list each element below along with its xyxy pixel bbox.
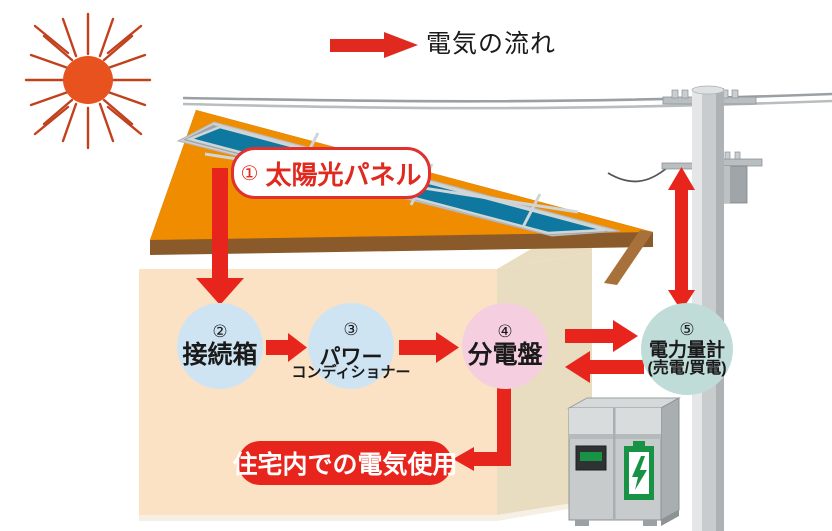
node-junction-box-number: ②: [212, 323, 227, 340]
solar-panel-callout-label: 太陽光パネル: [265, 155, 421, 192]
node-power-conditioner[interactable]: ③ パワー コンディショナー: [308, 303, 394, 389]
battery-storage-unit: [561, 392, 693, 527]
node-power-conditioner-label-line2: コンディショナー: [292, 361, 411, 382]
diagram-canvas: 電気の流れ ① 太陽光パネル ② 接続箱 ③ パワー コンディショナー ④ 分電…: [0, 0, 832, 531]
node-electricity-meter[interactable]: ⑤ 電力量計 (売電/買電): [641, 303, 733, 395]
arrow-meter-to-grid-bidirectional: [668, 167, 695, 311]
node-electricity-meter-sublabel: (売電/買電): [647, 361, 726, 377]
node-power-conditioner-number: ③: [343, 321, 358, 338]
legend: 電気の流れ: [330, 22, 600, 66]
node-electricity-meter-number: ⑤: [679, 321, 694, 338]
node-distribution-board-number: ④: [497, 323, 512, 340]
right-arrow-icon: [330, 32, 418, 58]
node-junction-box[interactable]: ② 接続箱: [177, 303, 263, 389]
arrow-distribution-board-to-meter: [565, 320, 638, 352]
node-distribution-board[interactable]: ④ 分電盤: [462, 303, 548, 389]
status-display: [580, 452, 602, 461]
home-electricity-use-label: 住宅内での電気使用: [233, 445, 458, 481]
solar-panel-callout[interactable]: ① 太陽光パネル: [231, 147, 431, 199]
arrow-conditioner-to-distribution-board: [399, 332, 459, 363]
battery-bolt-icon: [624, 441, 654, 500]
node-electricity-meter-label: 電力量計: [649, 341, 725, 360]
arrow-distribution-board-to-home-use: [453, 388, 511, 471]
arrow-junction-box-to-conditioner: [266, 333, 307, 362]
node-distribution-board-label: 分電盤: [467, 343, 542, 369]
node-junction-box-label: 接続箱: [182, 343, 257, 369]
home-electricity-use-callout[interactable]: 住宅内での電気使用: [238, 441, 452, 485]
arrow-meter-to-distribution-board: [565, 351, 644, 383]
legend-label: 電気の流れ: [426, 24, 556, 60]
solar-panel-callout-number: ①: [241, 161, 259, 186]
